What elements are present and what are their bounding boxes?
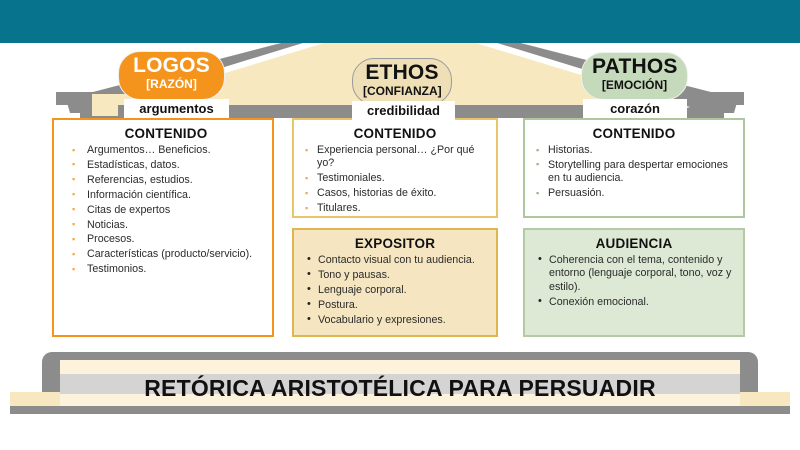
pillar-subtitle-pathos: [EMOCIÓN] (592, 79, 677, 91)
ethos-expositor-heading: EXPOSITOR (302, 236, 488, 251)
list-item: Storytelling para despertar emociones en… (533, 159, 735, 186)
ethos-contenido-list: Experiencia personal… ¿Por qué yo? Testi… (302, 144, 488, 216)
pathos-contenido-heading: CONTENIDO (533, 126, 735, 141)
list-item: Contacto visual con tu audiencia. (302, 254, 488, 267)
logos-contenido-heading: CONTENIDO (68, 126, 264, 141)
list-item: Procesos. (68, 233, 264, 246)
pillar-subtitle-ethos: [CONFIANZA] (363, 85, 441, 97)
pathos-contenido-box: CONTENIDO Historias. Storytelling para d… (523, 118, 745, 218)
pillar-title-pathos: PATHOS (592, 56, 677, 77)
list-item: Casos, historias de éxito. (302, 187, 488, 200)
list-item: Historias. (533, 144, 735, 157)
list-item: Testimoniales. (302, 172, 488, 185)
infographic-canvas: LOGOS [RAZÓN] argumentos CONTENIDO Argum… (0, 0, 800, 450)
list-item: Lenguaje corporal. (302, 284, 488, 297)
header-band (0, 0, 800, 43)
pillar-title-logos: LOGOS (129, 55, 214, 76)
pillar-subtitle-logos: [RAZÓN] (129, 78, 214, 90)
list-item: Estadísticas, datos. (68, 159, 264, 172)
list-item: Referencias, estudios. (68, 174, 264, 187)
list-item: Citas de expertos (68, 204, 264, 217)
pillar-label-pathos[interactable]: PATHOS [EMOCIÓN] (581, 52, 688, 100)
list-item: Tono y pausas. (302, 269, 488, 282)
diagram-title: RETÓRICA ARISTOTÉLICA PARA PERSUADIR (60, 362, 740, 414)
list-item: Persuasión. (533, 187, 735, 200)
list-item: Coherencia con el tema, contenido y ento… (533, 254, 735, 294)
ethos-contenido-heading: CONTENIDO (302, 126, 488, 141)
ethos-expositor-box: EXPOSITOR Contacto visual con tu audienc… (292, 228, 498, 337)
pillar-label-logos[interactable]: LOGOS [RAZÓN] (118, 51, 225, 100)
list-item: Características (producto/servicio). (68, 248, 264, 261)
ethos-expositor-list: Contacto visual con tu audiencia. Tono y… (302, 254, 488, 327)
list-item: Postura. (302, 299, 488, 312)
pillar-label-ethos[interactable]: ETHOS [CONFIANZA] (352, 58, 452, 105)
list-item: Vocabulario y expresiones. (302, 314, 488, 327)
pillar-keyword-ethos: credibilidad (352, 101, 455, 120)
pillar-keyword-pathos: corazón (583, 99, 687, 118)
list-item: Testimonios. (68, 263, 264, 276)
ethos-contenido-box: CONTENIDO Experiencia personal… ¿Por qué… (292, 118, 498, 218)
pathos-audiencia-box: AUDIENCIA Coherencia con el tema, conten… (523, 228, 745, 337)
pillar-title-ethos: ETHOS (363, 62, 441, 83)
pathos-audiencia-heading: AUDIENCIA (533, 236, 735, 251)
list-item: Titulares. (302, 202, 488, 215)
list-item: Noticias. (68, 219, 264, 232)
logos-contenido-box: CONTENIDO Argumentos… Beneficios. Estadí… (52, 118, 274, 337)
pathos-audiencia-list: Coherencia con el tema, contenido y ento… (533, 254, 735, 309)
logos-contenido-list: Argumentos… Beneficios. Estadísticas, da… (68, 144, 264, 277)
list-item: Conexión emocional. (533, 296, 735, 309)
pillar-keyword-logos: argumentos (124, 99, 229, 118)
list-item: Argumentos… Beneficios. (68, 144, 264, 157)
list-item: Información científica. (68, 189, 264, 202)
list-item: Experiencia personal… ¿Por qué yo? (302, 144, 488, 171)
pathos-contenido-list: Historias. Storytelling para despertar e… (533, 144, 735, 201)
